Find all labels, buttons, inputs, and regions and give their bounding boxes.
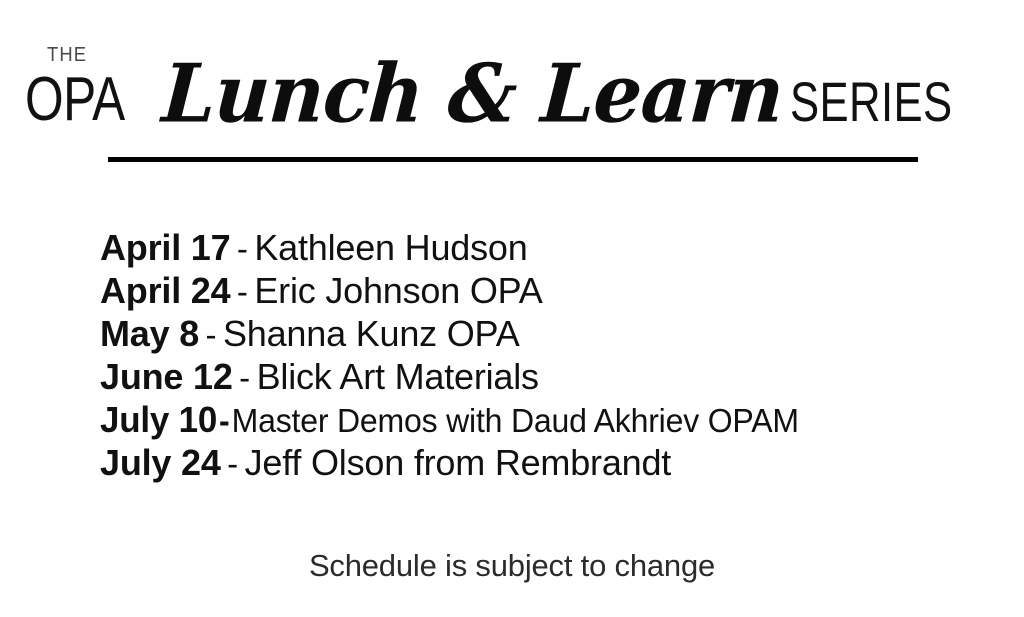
schedule-row: April 17 - Kathleen Hudson [100, 226, 970, 269]
header-divider-rule [108, 157, 918, 162]
schedule-row: June 12 - Blick Art Materials [100, 355, 970, 398]
schedule-date: April 17 [100, 227, 230, 268]
title-lockup: THE OPA Lunch & Learn SERIES [0, 38, 1024, 130]
schedule-presenter: Shanna Kunz OPA [223, 313, 520, 354]
schedule-row: July 10 - Master Demos with Daud Akhriev… [100, 398, 944, 441]
series-label: SERIES [790, 75, 953, 128]
schedule-date: July 24 [100, 442, 221, 483]
schedule-date: May 8 [100, 313, 199, 354]
schedule-disclaimer: Schedule is subject to change [0, 548, 1024, 584]
poster-canvas: THE OPA Lunch & Learn SERIES April 17 - … [0, 0, 1024, 617]
schedule-presenter: Jeff Olson from Rembrandt [245, 442, 672, 483]
schedule-presenter: Eric Johnson OPA [254, 270, 542, 311]
schedule-presenter: Kathleen Hudson [254, 227, 527, 268]
schedule-row: April 24 - Eric Johnson OPA [100, 269, 970, 312]
schedule-separator: - [217, 399, 232, 442]
schedule-list: April 17 - Kathleen Hudson April 24 - Er… [100, 226, 970, 484]
schedule-date: July 10 [100, 398, 217, 441]
schedule-presenter: Blick Art Materials [257, 356, 539, 397]
the-opa-group: THE OPA [25, 45, 150, 130]
schedule-date: April 24 [100, 270, 230, 311]
schedule-separator: - [204, 316, 219, 353]
opa-label: OPA [25, 71, 125, 130]
schedule-row: May 8 - Shanna Kunz OPA [100, 312, 970, 355]
lunch-and-learn-script-label: Lunch & Learn [160, 55, 785, 132]
schedule-separator: - [235, 273, 250, 310]
schedule-separator: - [235, 230, 250, 267]
schedule-separator: - [225, 445, 240, 482]
the-label: THE [47, 45, 87, 65]
schedule-date: June 12 [100, 356, 233, 397]
schedule-separator: - [237, 359, 252, 396]
schedule-row: July 24 - Jeff Olson from Rembrandt [100, 441, 970, 484]
schedule-presenter: Master Demos with Daud Akhriev OPAM [232, 399, 799, 442]
